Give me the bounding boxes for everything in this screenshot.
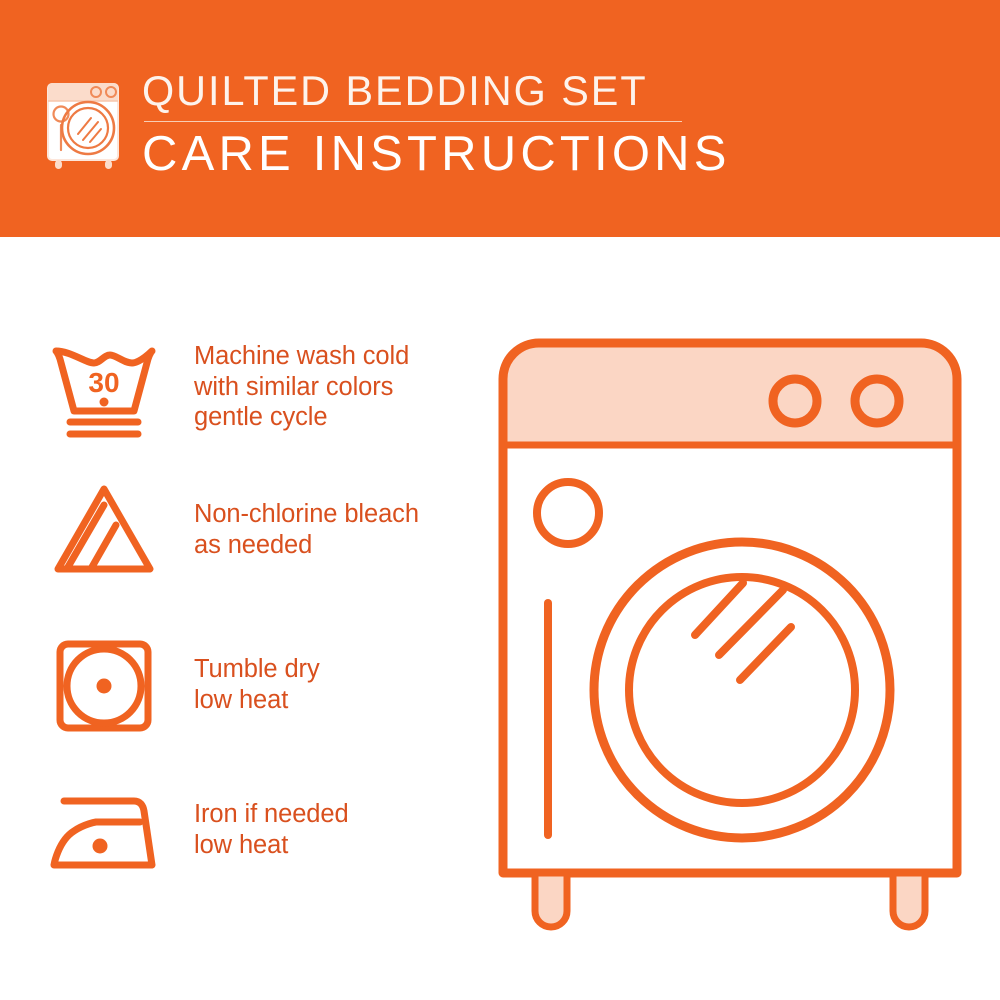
care-item-bleach: Non-chlorine bleach as needed: [0, 477, 470, 585]
care-item-label-machine-wash: Machine wash cold with similar colors ge…: [194, 337, 409, 433]
wash-temp-value: 30: [88, 367, 119, 398]
care-item-label-tumble-dry: Tumble dry low heat: [194, 632, 320, 715]
washing-machine-icon: [43, 70, 131, 170]
care-text-line: as needed: [194, 530, 419, 561]
care-item-tumble-dry: Tumble dry low heat: [0, 632, 470, 740]
care-text-line: Iron if needed: [194, 799, 349, 830]
care-text-line: Tumble dry: [194, 654, 320, 685]
care-item-label-iron: Iron if needed low heat: [194, 777, 349, 860]
iron-low-heat-icon: [40, 777, 168, 885]
care-text-line: low heat: [194, 830, 349, 861]
header-banner: QUILTED BEDDING SET CARE INSTRUCTIONS: [0, 0, 1000, 237]
care-item-machine-wash: 30 Machine wash cold with similar colors…: [0, 337, 470, 445]
small-dial: [537, 482, 599, 544]
care-instructions-infographic: QUILTED BEDDING SET CARE INSTRUCTIONS 30: [0, 0, 1000, 1000]
machine-wash-30-gentle-icon: 30: [40, 337, 168, 445]
care-text-line: gentle cycle: [194, 402, 409, 433]
foot-left: [535, 873, 567, 927]
control-panel: [503, 343, 957, 445]
page-title: QUILTED BEDDING SET: [142, 68, 694, 114]
door-inner-circle: [629, 577, 855, 803]
header-title-block: QUILTED BEDDING SET CARE INSTRUCTIONS: [142, 68, 702, 182]
care-item-label-bleach: Non-chlorine bleach as needed: [194, 477, 419, 560]
title-divider: [144, 121, 682, 122]
care-text-line: Machine wash cold: [194, 341, 409, 372]
tumble-dry-low-heat-icon: [40, 632, 168, 740]
door-shine-lines: [695, 583, 791, 680]
care-text-line: low heat: [194, 685, 320, 716]
non-chlorine-bleach-triangle-icon: [40, 477, 168, 585]
care-text-line: with similar colors: [194, 372, 409, 403]
page-subtitle: CARE INSTRUCTIONS: [142, 126, 702, 182]
foot-right: [893, 873, 925, 927]
care-item-iron: Iron if needed low heat: [0, 777, 470, 885]
care-text-line: Non-chlorine bleach: [194, 499, 419, 530]
front-load-washing-machine-illustration: [495, 335, 965, 935]
